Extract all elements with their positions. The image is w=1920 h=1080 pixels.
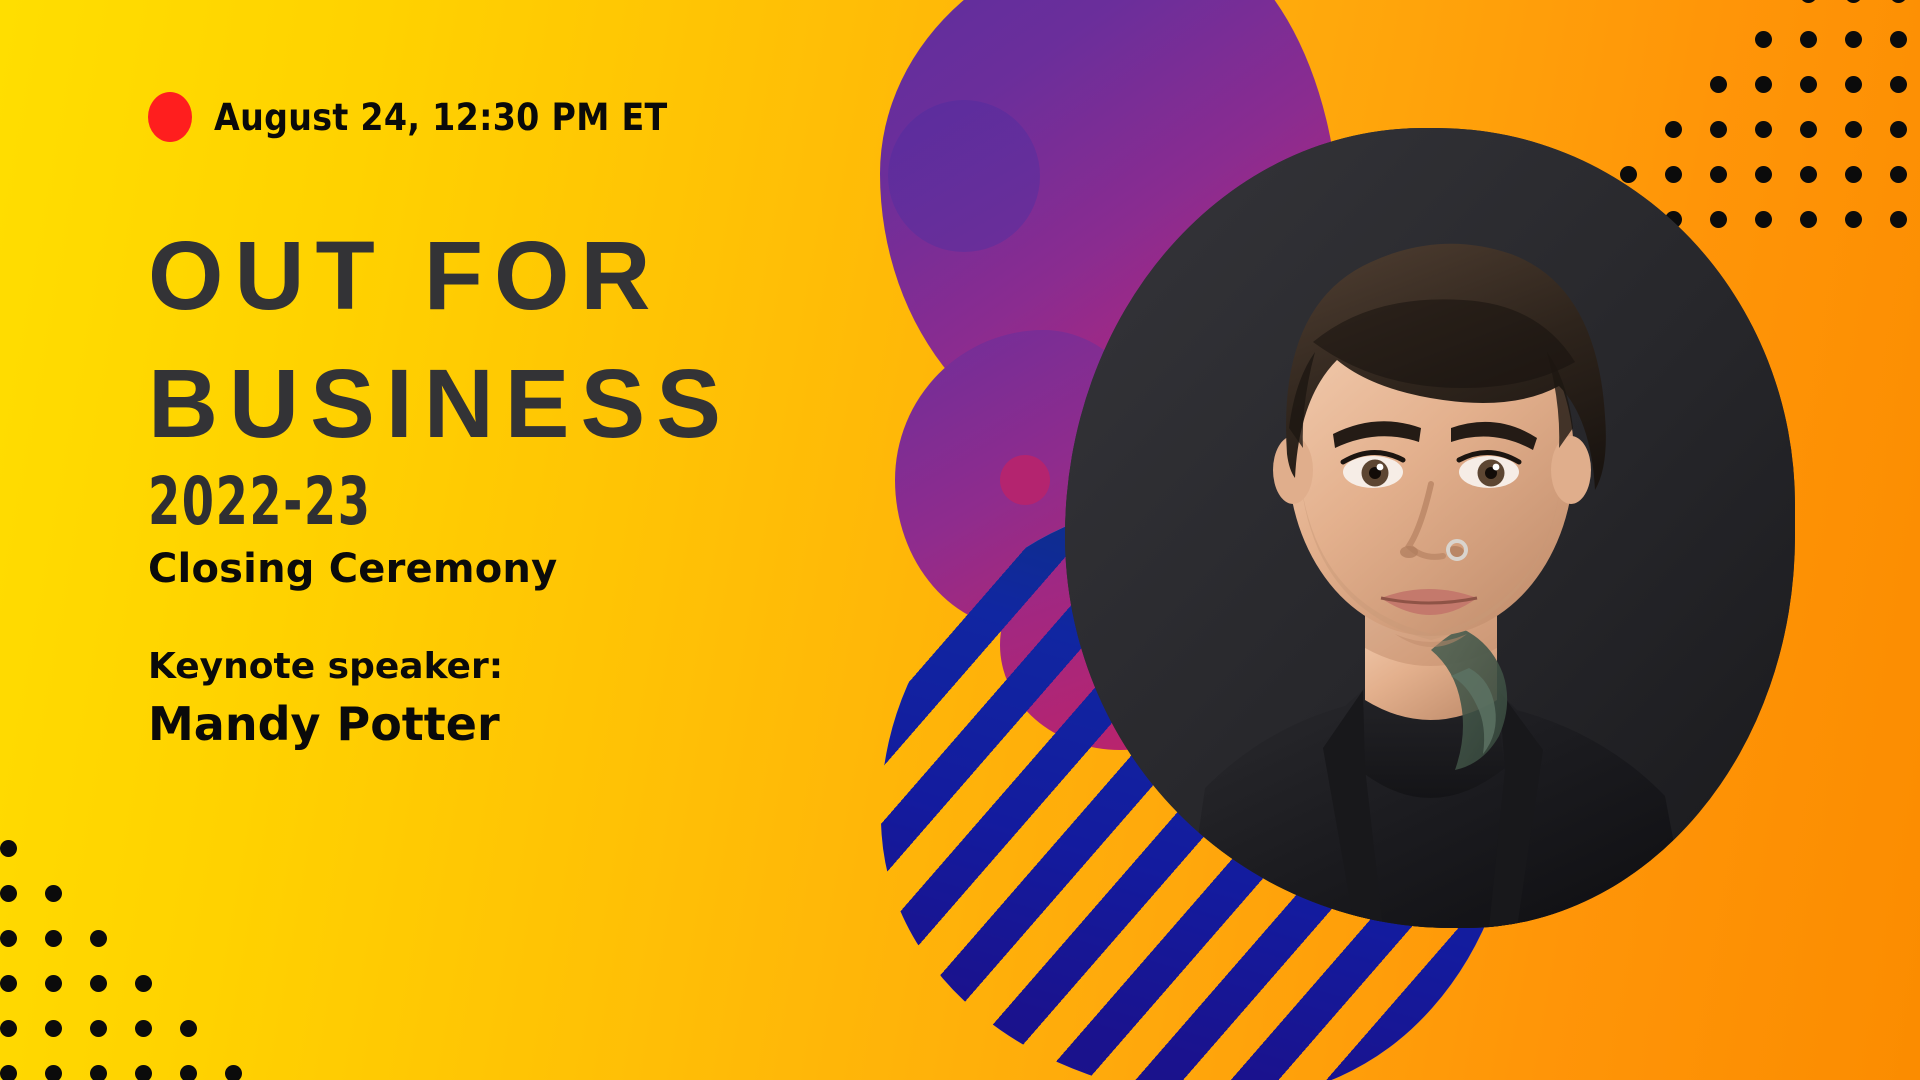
magenta-dot-icon [1000,455,1050,505]
page-title-line-2: BUSINESS [148,340,732,468]
page-title: OUT FOR BUSINESS [148,212,732,468]
purple-circle-icon [888,100,1040,252]
speaker-portrait-image [1065,128,1795,928]
event-promo-poster: August 24, 12:30 PM ET OUT FOR BUSINESS … [0,0,1920,1080]
event-date-row: August 24, 12:30 PM ET [148,92,668,142]
keynote-speaker-label: Keynote speaker: [148,646,503,687]
poster-text-column: August 24, 12:30 PM ET OUT FOR BUSINESS … [148,0,908,1080]
event-date-text: August 24, 12:30 PM ET [214,96,668,139]
event-year-range: 2022-23 [148,463,372,540]
page-title-line-1: OUT FOR [148,221,661,330]
red-circle-icon [148,92,192,142]
speaker-portrait-icon [1065,128,1795,928]
event-session-name: Closing Ceremony [148,546,557,592]
keynote-speaker-name: Mandy Potter [148,697,500,751]
